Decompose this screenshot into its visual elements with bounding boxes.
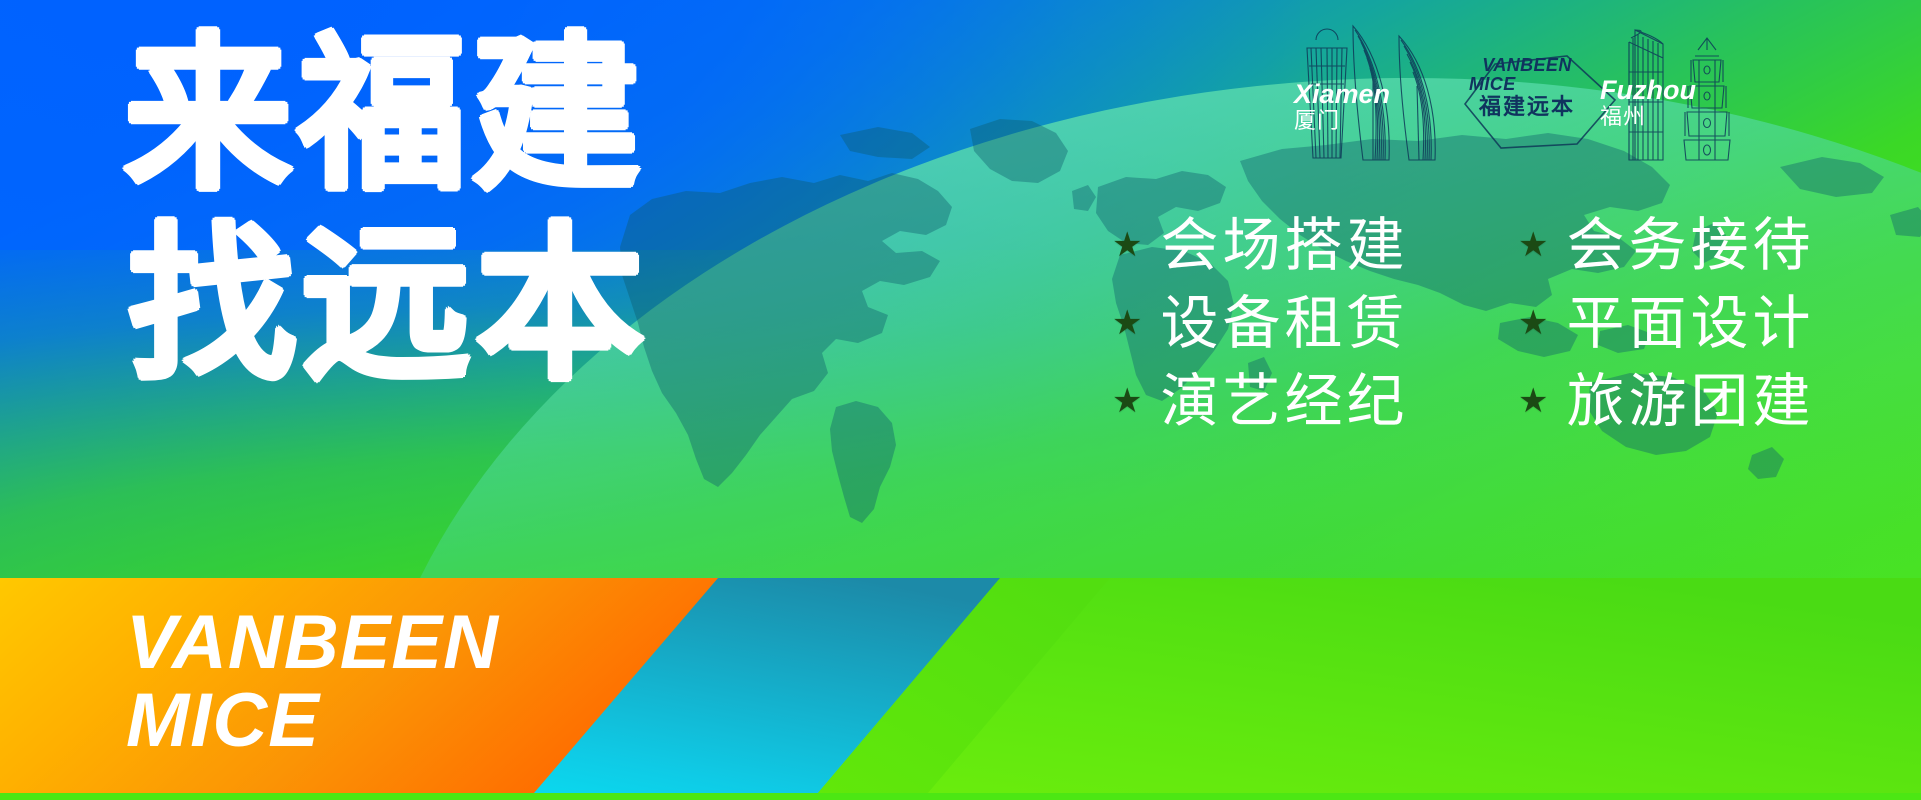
footer-band: VANBEEN MICE — [0, 578, 1921, 800]
star-icon: ★ — [1518, 228, 1548, 262]
service-item: ★ 旅游团建 — [1518, 368, 1902, 434]
service-item: ★ 会场搭建 — [1112, 212, 1496, 278]
star-icon: ★ — [1518, 306, 1548, 340]
headline: 来福建 找远本 — [124, 40, 650, 380]
footer-bottom-edge — [0, 793, 1921, 800]
city-label-xiamen: Xiamen 厦门 — [1294, 80, 1390, 135]
promo-banner: 来福建 找远本 ★ 会场搭建 ★ 会务接待 ★ 设备租赁 ★ 平面设计 ★ — [0, 0, 1921, 800]
star-icon: ★ — [1112, 306, 1142, 340]
service-list: ★ 会场搭建 ★ 会务接待 ★ 设备租赁 ★ 平面设计 ★ 演艺经纪 ★ 旅游团… — [1112, 212, 1902, 434]
hex-logo-en-line1: VANBEEN — [1437, 56, 1617, 75]
service-label: 会场搭建 — [1160, 212, 1408, 278]
hex-logo-en-line2: MICE — [1437, 75, 1617, 94]
vanbeen-hex-logo: VANBEEN MICE 福建远本 — [1437, 56, 1617, 144]
city-name-cn: 厦门 — [1294, 109, 1390, 135]
service-item: ★ 设备租赁 — [1112, 290, 1496, 356]
star-icon: ★ — [1112, 384, 1142, 418]
wordmark-line-2: MICE — [126, 682, 499, 760]
wordmark-line-1: VANBEEN — [126, 604, 499, 682]
service-label: 旅游团建 — [1566, 368, 1814, 434]
footer-wordmark: VANBEEN MICE — [126, 604, 499, 760]
star-icon: ★ — [1112, 228, 1142, 262]
hex-logo-cn: 福建远本 — [1437, 95, 1617, 121]
service-label: 会务接待 — [1566, 212, 1814, 278]
service-item: ★ 会务接待 — [1518, 212, 1902, 278]
headline-line-1: 来福建 — [124, 40, 650, 190]
service-item: ★ 平面设计 — [1518, 290, 1902, 356]
city-landmark-strip: Xiamen 厦门 Fuzhou 福州 VANBEEN MICE 福建远本 — [1295, 8, 1785, 168]
headline-line-2: 找远本 — [128, 230, 650, 380]
star-icon: ★ — [1518, 384, 1548, 418]
city-name-en: Xiamen — [1294, 80, 1390, 109]
hero-background: 来福建 找远本 ★ 会场搭建 ★ 会务接待 ★ 设备租赁 ★ 平面设计 ★ — [0, 0, 1921, 580]
service-label: 演艺经纪 — [1160, 368, 1408, 434]
service-item: ★ 演艺经纪 — [1112, 368, 1496, 434]
service-label: 平面设计 — [1566, 290, 1814, 356]
service-label: 设备租赁 — [1160, 290, 1408, 356]
